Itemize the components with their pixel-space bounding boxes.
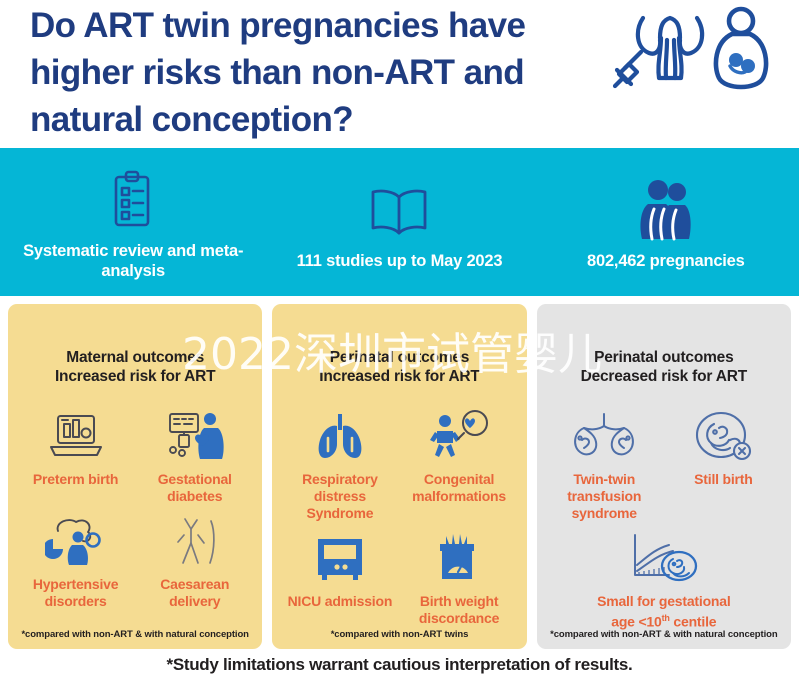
outcome-still-birth: Still birth bbox=[664, 408, 783, 522]
page-title: Do ART twin pregnancies have higher risk… bbox=[30, 2, 610, 143]
uterus-syringe-icon bbox=[597, 4, 777, 100]
hypertensive-disorders-icon bbox=[45, 513, 107, 569]
card-items: Twin-twin transfusion syndrome bbox=[545, 408, 783, 649]
stat-systematic-review: Systematic review and meta-analysis bbox=[0, 148, 266, 296]
header: Do ART twin pregnancies have higher risk… bbox=[0, 0, 799, 145]
twin-twin-transfusion-icon bbox=[568, 408, 640, 464]
outcome-hypertensive-disorders: Hypertensive disorders bbox=[16, 513, 135, 610]
card-perinatal-decreased-risk: Perinatal outcomes Decreased risk for AR… bbox=[537, 304, 791, 649]
card-title: Perinatal outcomes Increased risk for AR… bbox=[280, 348, 518, 386]
outcome-label: Preterm birth bbox=[33, 471, 118, 488]
stat-studies-count: 111 studies up to May 2023 bbox=[266, 148, 532, 296]
outcome-preterm-birth: Preterm birth bbox=[16, 408, 135, 505]
open-book-icon bbox=[367, 179, 431, 241]
stat-label: 802,462 pregnancies bbox=[587, 251, 745, 271]
outcome-birth-weight-discordance: Birth weight discordance bbox=[399, 530, 518, 627]
outcome-label: Birth weight discordance bbox=[419, 593, 499, 627]
outcome-label: Congenital malformations bbox=[412, 471, 506, 505]
outcome-label: NICU admission bbox=[288, 593, 393, 610]
infographic-page: Do ART twin pregnancies have higher risk… bbox=[0, 0, 799, 684]
outcome-respiratory-distress-syndrome: Respiratory distress Syndrome bbox=[280, 408, 399, 522]
nicu-incubator-icon bbox=[311, 530, 369, 586]
caesarean-delivery-icon bbox=[169, 513, 221, 569]
birth-weight-scale-icon bbox=[431, 530, 487, 586]
stillbirth-icon bbox=[692, 408, 754, 464]
card-footnote: *compared with non-ART & with natural co… bbox=[537, 629, 791, 640]
card-items: Respiratory distress Syndrome bbox=[280, 408, 518, 649]
outcome-label: Caesarean delivery bbox=[160, 576, 229, 610]
outcome-congenital-malformations: Congenital malformations bbox=[399, 408, 518, 522]
footer-note: *Study limitations warrant cautious inte… bbox=[0, 655, 799, 675]
outcome-label: Gestational diabetes bbox=[158, 471, 232, 505]
pregnant-twins-icon bbox=[716, 9, 766, 87]
outcome-caesarean-delivery: Caesarean delivery bbox=[135, 513, 254, 610]
stat-pregnancies-count: 802,462 pregnancies bbox=[533, 148, 799, 296]
lungs-icon bbox=[311, 408, 369, 464]
card-footnote: *compared with non-ART twins bbox=[272, 629, 526, 640]
outcome-cards-row: Maternal outcomes Increased risk for ART bbox=[0, 304, 799, 649]
header-icon-group bbox=[597, 4, 777, 100]
preterm-birth-monitor-icon bbox=[47, 408, 105, 464]
card-title: Perinatal outcomes Decreased risk for AR… bbox=[545, 348, 783, 386]
congenital-malformation-baby-heart-icon bbox=[428, 408, 490, 464]
outcome-nicu-admission: NICU admission bbox=[280, 530, 399, 627]
card-items: Preterm birth bbox=[16, 408, 254, 649]
outcome-label: Twin-twin transfusion syndrome bbox=[567, 471, 641, 522]
card-perinatal-increased-risk: Perinatal outcomes Increased risk for AR… bbox=[272, 304, 526, 649]
outcome-label: Respiratory distress Syndrome bbox=[282, 471, 397, 522]
outcome-label: Hypertensive disorders bbox=[33, 576, 119, 610]
card-title: Maternal outcomes Increased risk for ART bbox=[16, 348, 254, 386]
two-pregnant-people-icon bbox=[636, 179, 696, 241]
card-maternal-increased-risk: Maternal outcomes Increased risk for ART bbox=[8, 304, 262, 649]
outcome-small-for-gestational-age: Small for gestationalage <10th centile bbox=[545, 530, 783, 631]
outcome-twin-twin-transfusion-syndrome: Twin-twin transfusion syndrome bbox=[545, 408, 664, 522]
stat-label: 111 studies up to May 2023 bbox=[297, 251, 503, 271]
clipboard-checklist-icon bbox=[107, 169, 159, 231]
gestational-diabetes-icon bbox=[165, 408, 225, 464]
stats-band: Systematic review and meta-analysis 111 … bbox=[0, 148, 799, 296]
card-footnote: *compared with non-ART & with natural co… bbox=[8, 629, 262, 640]
outcome-label: Still birth bbox=[694, 471, 752, 488]
stat-label: Systematic review and meta-analysis bbox=[0, 241, 266, 281]
small-for-gestational-age-chart-icon bbox=[621, 530, 707, 586]
outcome-gestational-diabetes: Gestational diabetes bbox=[135, 408, 254, 505]
outcome-label: Small for gestationalage <10th centile bbox=[597, 593, 731, 631]
